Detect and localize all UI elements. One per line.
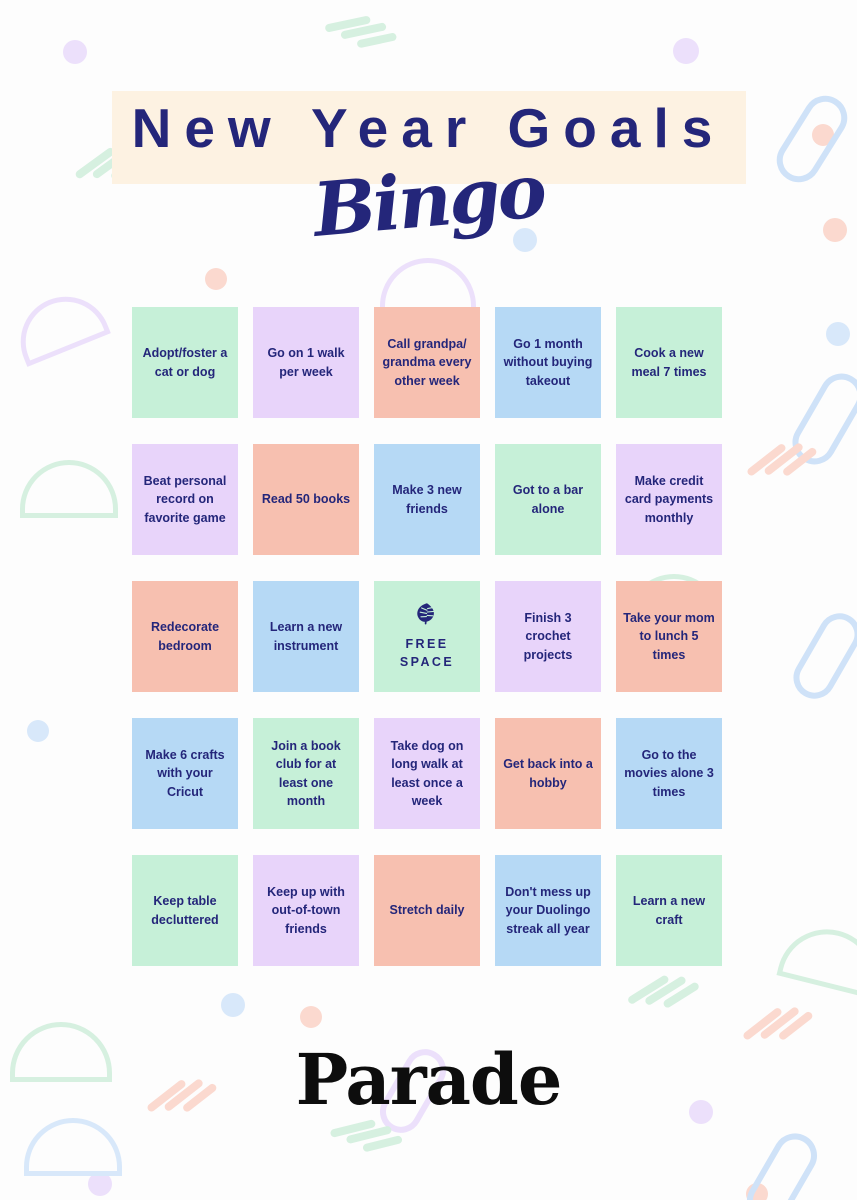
bingo-cell[interactable]: Cook a new meal 7 times bbox=[616, 307, 722, 418]
bingo-cell[interactable]: Make 6 crafts with your Cricut bbox=[132, 718, 238, 829]
bingo-cell[interactable]: Learn a new craft bbox=[616, 855, 722, 966]
semicircle-outline bbox=[20, 460, 118, 518]
bingo-cell-text: Take dog on long walk at least once a we… bbox=[381, 737, 473, 810]
confetti-dot bbox=[205, 268, 227, 290]
bingo-cell[interactable]: Call grandpa/ grandma every other week bbox=[374, 307, 480, 418]
bingo-cell[interactable]: Don't mess up your Duolingo streak all y… bbox=[495, 855, 601, 966]
bingo-cell-text: Don't mess up your Duolingo streak all y… bbox=[502, 883, 594, 938]
pill-outline bbox=[784, 366, 857, 473]
bingo-cell[interactable]: Finish 3 crochet projects bbox=[495, 581, 601, 692]
bingo-cell[interactable]: Take dog on long walk at least once a we… bbox=[374, 718, 480, 829]
confetti-dot bbox=[823, 218, 847, 242]
bingo-cell[interactable]: Keep up with out-of-town friends bbox=[253, 855, 359, 966]
semicircle-outline bbox=[24, 1118, 122, 1176]
bingo-cell-free-space[interactable]: FREESPACE bbox=[374, 581, 480, 692]
confetti-dot bbox=[826, 322, 850, 346]
confetti-dot bbox=[63, 40, 87, 64]
bingo-cell-text: Keep up with out-of-town friends bbox=[260, 883, 352, 938]
bingo-cell-text: Go to the movies alone 3 times bbox=[623, 746, 715, 801]
stripe-cluster bbox=[330, 1116, 403, 1189]
bingo-cell-text: Make credit card payments monthly bbox=[623, 472, 715, 527]
stripe-cluster bbox=[627, 967, 710, 1050]
bingo-cell-text: Adopt/foster a cat or dog bbox=[139, 344, 231, 381]
brand-logo: Parade bbox=[0, 1038, 857, 1121]
leaf-icon bbox=[414, 602, 440, 630]
bingo-cell-text: Go on 1 walk per week bbox=[260, 344, 352, 381]
leaf-icon bbox=[414, 602, 440, 630]
bingo-cell[interactable]: Stretch daily bbox=[374, 855, 480, 966]
bingo-cell[interactable]: Got to a bar alone bbox=[495, 444, 601, 555]
bingo-cell-text: Keep table decluttered bbox=[139, 892, 231, 929]
bingo-cell-text: Beat personal record on favorite game bbox=[139, 472, 231, 527]
bingo-cell-text: Take your mom to lunch 5 times bbox=[623, 609, 715, 664]
bingo-cell[interactable]: Go on 1 walk per week bbox=[253, 307, 359, 418]
bingo-cell[interactable]: Adopt/foster a cat or dog bbox=[132, 307, 238, 418]
bingo-cell[interactable]: Learn a new instrument bbox=[253, 581, 359, 692]
bingo-cell-text: Stretch daily bbox=[389, 901, 464, 919]
bingo-cell-text: Got to a bar alone bbox=[502, 481, 594, 518]
bingo-cell-text: Get back into a hobby bbox=[502, 755, 594, 792]
bingo-cell-text: Make 6 crafts with your Cricut bbox=[139, 746, 231, 801]
bingo-cell[interactable]: Take your mom to lunch 5 times bbox=[616, 581, 722, 692]
bingo-cell-text: Redecorate bedroom bbox=[139, 618, 231, 655]
confetti-dot bbox=[673, 38, 699, 64]
pill-outline bbox=[786, 606, 857, 707]
bingo-cell[interactable]: Redecorate bedroom bbox=[132, 581, 238, 692]
bingo-cell-text: Cook a new meal 7 times bbox=[623, 344, 715, 381]
bingo-cell[interactable]: Read 50 books bbox=[253, 444, 359, 555]
free-space-label: FREESPACE bbox=[400, 635, 454, 671]
bingo-cell[interactable]: Keep table decluttered bbox=[132, 855, 238, 966]
confetti-dot bbox=[300, 1006, 322, 1028]
bingo-cell-text: Make 3 new friends bbox=[381, 481, 473, 518]
bingo-cell-text: Learn a new craft bbox=[623, 892, 715, 929]
semicircle-outline bbox=[7, 283, 111, 367]
semicircle-outline bbox=[776, 919, 857, 999]
bingo-cell-text: Call grandpa/ grandma every other week bbox=[381, 335, 473, 390]
confetti-dot bbox=[746, 1183, 768, 1200]
bingo-cell-text: Learn a new instrument bbox=[260, 618, 352, 655]
bingo-cell-text: Go 1 month without buying takeout bbox=[502, 335, 594, 390]
bingo-cell[interactable]: Make credit card payments monthly bbox=[616, 444, 722, 555]
confetti-dot bbox=[221, 993, 245, 1017]
semicircle-outline bbox=[380, 258, 476, 314]
bingo-cell-text: Join a book club for at least one month bbox=[260, 737, 352, 810]
stripe-cluster bbox=[746, 434, 830, 518]
bingo-cell[interactable]: Go 1 month without buying takeout bbox=[495, 307, 601, 418]
confetti-dot bbox=[27, 720, 49, 742]
bingo-cell[interactable]: Beat personal record on favorite game bbox=[132, 444, 238, 555]
bingo-cell[interactable]: Get back into a hobby bbox=[495, 718, 601, 829]
confetti-dot bbox=[88, 1172, 112, 1196]
stripe-cluster bbox=[324, 12, 395, 83]
bingo-grid: Adopt/foster a cat or dogGo on 1 walk pe… bbox=[132, 307, 722, 966]
bingo-cell[interactable]: Make 3 new friends bbox=[374, 444, 480, 555]
bingo-cell-text: Read 50 books bbox=[262, 490, 350, 508]
bingo-cell-text: Finish 3 crochet projects bbox=[502, 609, 594, 664]
bingo-cell[interactable]: Join a book club for at least one month bbox=[253, 718, 359, 829]
bingo-cell[interactable]: Go to the movies alone 3 times bbox=[616, 718, 722, 829]
pill-outline bbox=[739, 1125, 825, 1200]
